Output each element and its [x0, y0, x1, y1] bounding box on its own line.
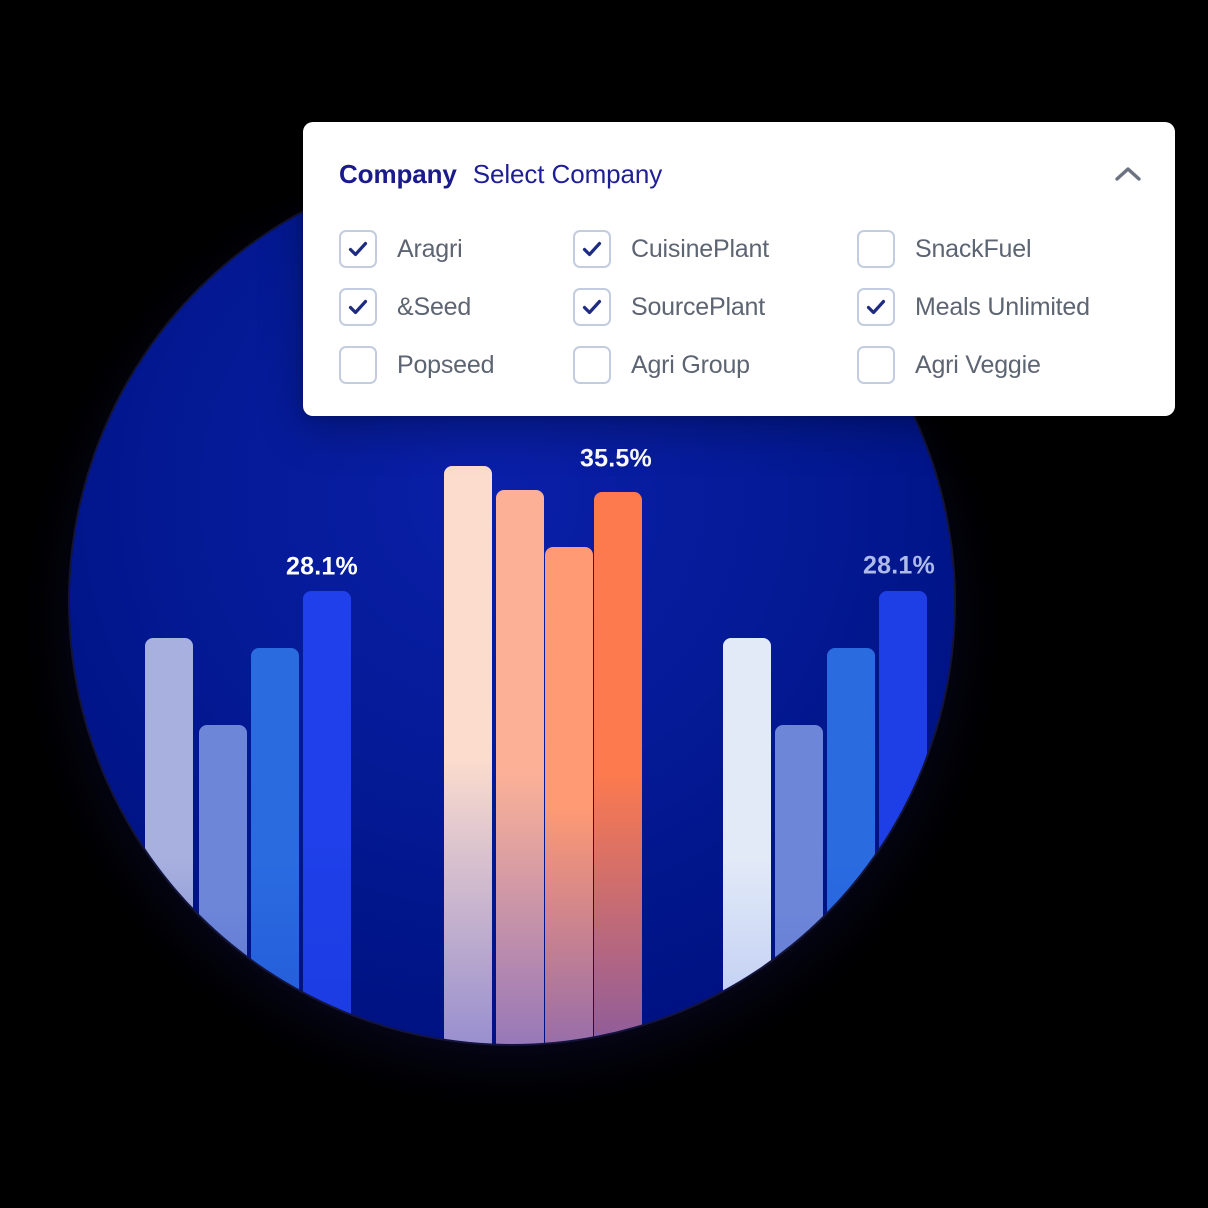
bar-b5 [444, 466, 492, 1044]
checkbox-checked-icon[interactable] [339, 288, 377, 326]
bar-b2 [199, 725, 247, 1044]
checkbox-checked-icon[interactable] [857, 288, 895, 326]
checkbox-label: Meals Unlimited [915, 293, 1090, 322]
checkbox-unchecked-icon[interactable] [573, 346, 611, 384]
checkbox-label: SnackFuel [915, 235, 1031, 264]
checkbox-item-sourceplant[interactable]: SourcePlant [573, 288, 857, 326]
checkbox-checked-icon[interactable] [573, 230, 611, 268]
bar-value-label: 28.1% [863, 552, 935, 581]
bar-b7 [545, 547, 593, 1044]
bar-b10 [775, 725, 823, 1044]
checkbox-label: Agri Veggie [915, 351, 1041, 380]
checkbox-label: &Seed [397, 293, 471, 322]
checkbox-label: Aragri [397, 235, 463, 264]
screenshot-root: 28.1%35.5%28.1% Company Select Company A… [0, 0, 1208, 1208]
bar-b11 [827, 648, 875, 1044]
bar-b9 [723, 638, 771, 1044]
company-checkbox-grid: AragriCuisinePlantSnackFuel&SeedSourcePl… [339, 220, 1147, 394]
checkbox-unchecked-icon[interactable] [857, 346, 895, 384]
checkbox-item-agri-veggie[interactable]: Agri Veggie [857, 346, 1147, 384]
bar-value-label: 35.5% [580, 445, 652, 474]
checkbox-item-popseed[interactable]: Popseed [339, 346, 573, 384]
bar-b8 [594, 492, 642, 1044]
bar-b3 [251, 648, 299, 1044]
checkbox-item-seed[interactable]: &Seed [339, 288, 573, 326]
checkbox-label: Agri Group [631, 351, 750, 380]
checkbox-label: Popseed [397, 351, 494, 380]
chevron-up-icon[interactable] [1111, 157, 1145, 191]
bar-b6 [496, 490, 544, 1044]
bar-b4 [303, 591, 351, 1044]
checkbox-unchecked-icon[interactable] [857, 230, 895, 268]
panel-subtitle: Select Company [473, 159, 662, 190]
bar-value-label: 28.1% [286, 553, 358, 582]
checkbox-unchecked-icon[interactable] [339, 346, 377, 384]
panel-title: Company [339, 159, 457, 190]
checkbox-label: CuisinePlant [631, 235, 769, 264]
panel-header: Company Select Company [339, 154, 1145, 194]
bar-b12 [879, 591, 927, 1044]
checkbox-item-agri-group[interactable]: Agri Group [573, 346, 857, 384]
checkbox-item-cuisineplant[interactable]: CuisinePlant [573, 230, 857, 268]
company-select-panel: Company Select Company AragriCuisinePlan… [303, 122, 1175, 416]
checkbox-item-meals-unlimited[interactable]: Meals Unlimited [857, 288, 1147, 326]
checkbox-checked-icon[interactable] [573, 288, 611, 326]
checkbox-item-aragri[interactable]: Aragri [339, 230, 573, 268]
checkbox-label: SourcePlant [631, 293, 765, 322]
bar-b1 [145, 638, 193, 1044]
checkbox-item-snackfuel[interactable]: SnackFuel [857, 230, 1147, 268]
checkbox-checked-icon[interactable] [339, 230, 377, 268]
